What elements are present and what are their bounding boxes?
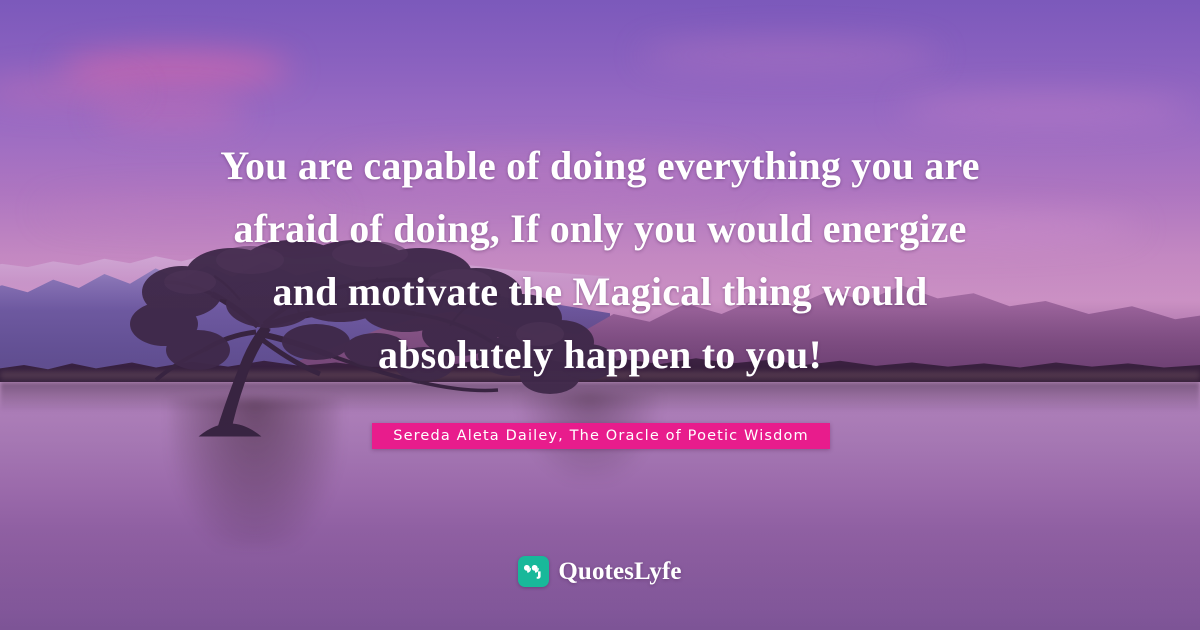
quote-bubble-icon bbox=[518, 556, 549, 587]
brand-logo[interactable]: QuotesLyfe bbox=[0, 556, 1200, 587]
quote-attribution: Sereda Aleta Dailey, The Oracle of Poeti… bbox=[372, 423, 830, 449]
quote-card: You are capable of doing everything you … bbox=[0, 0, 1200, 630]
card-content: You are capable of doing everything you … bbox=[0, 0, 1200, 630]
brand-name: QuotesLyfe bbox=[558, 558, 681, 586]
quote-text: You are capable of doing everything you … bbox=[0, 134, 1200, 386]
